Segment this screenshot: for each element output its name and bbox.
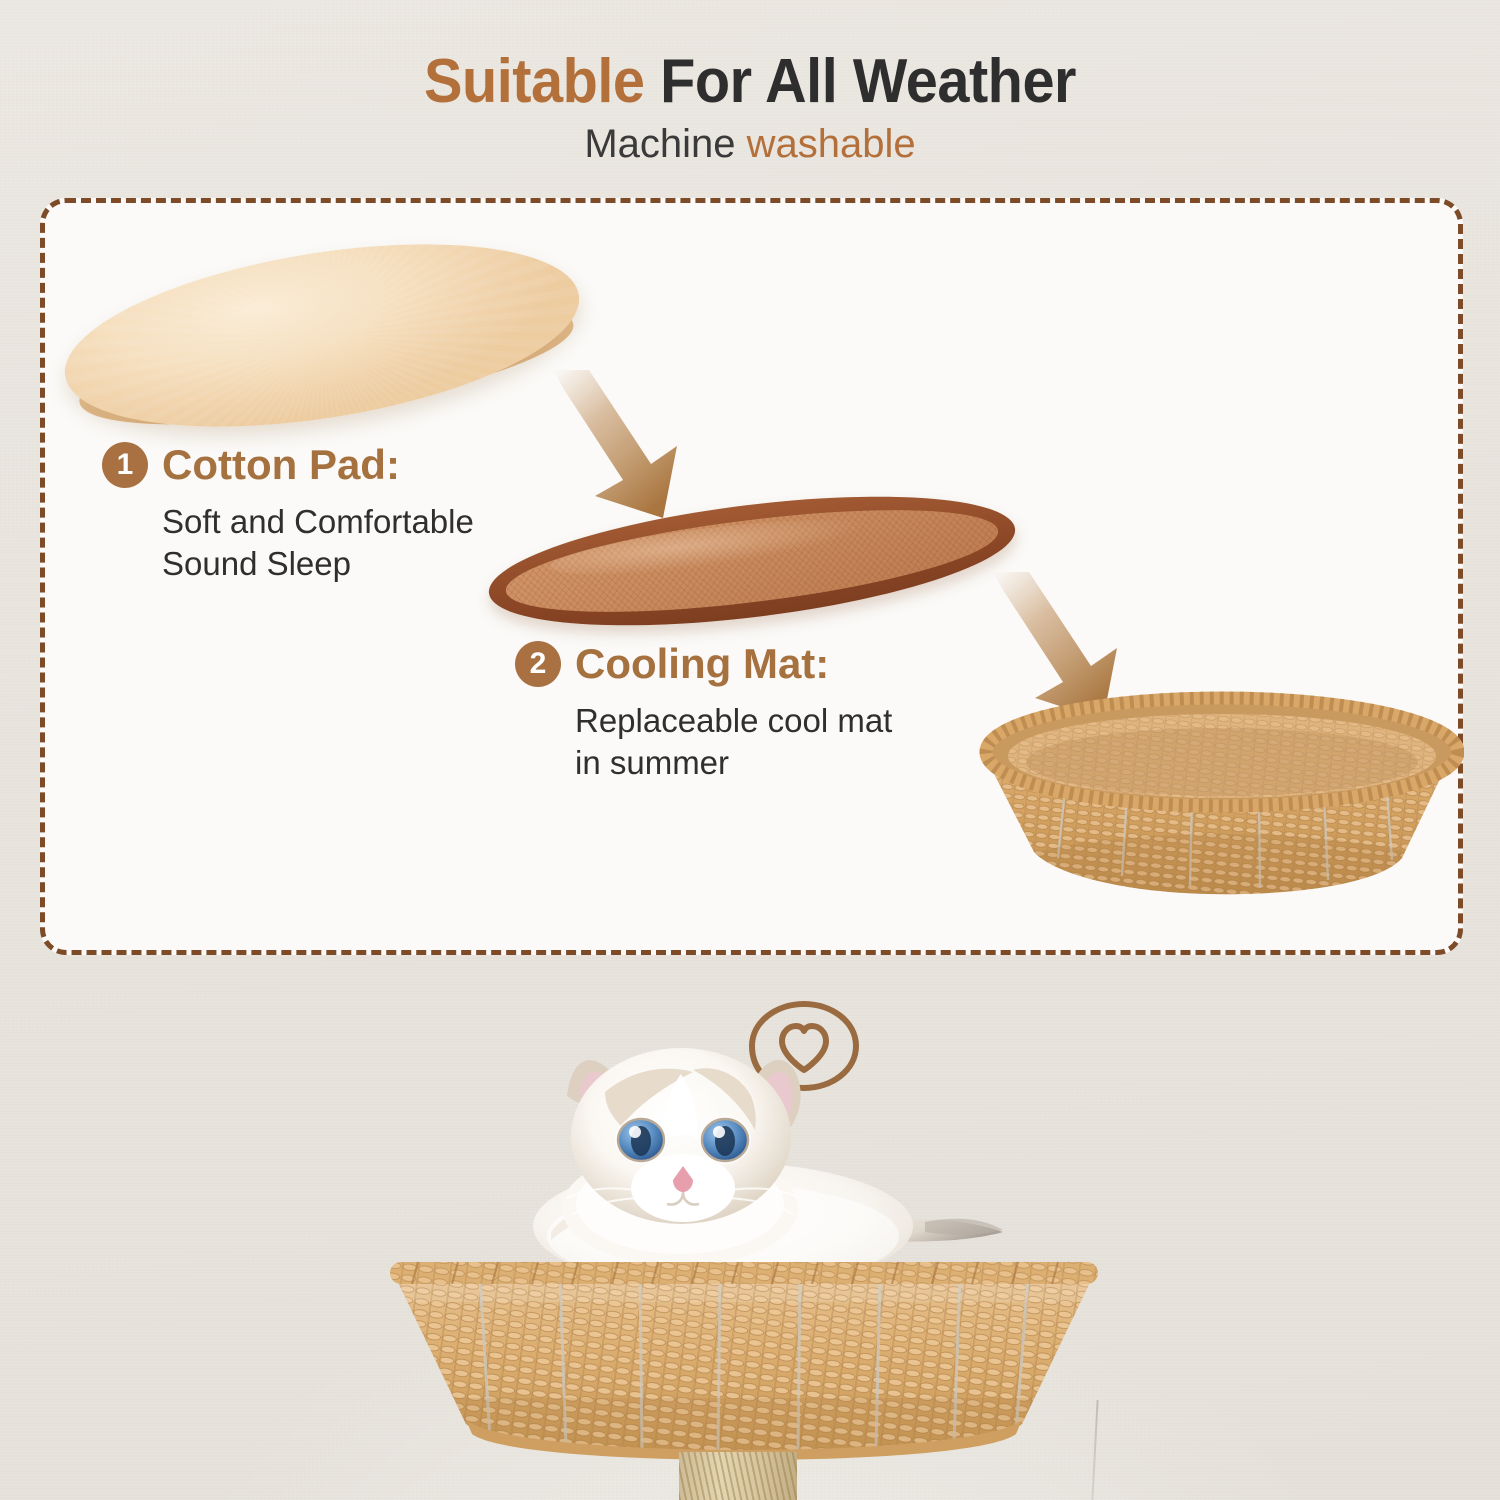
page-title-accent: Suitable xyxy=(424,47,645,116)
callout-2-body: Replaceable cool mat in summer xyxy=(575,700,892,784)
woven-basket-image xyxy=(972,688,1464,903)
callout-1-title-row: 1 Cotton Pad: xyxy=(102,441,474,489)
page-subtitle-plain: Machine xyxy=(584,122,746,166)
scratching-post xyxy=(679,1452,797,1500)
page-title-rest: For All Weather xyxy=(645,47,1076,116)
callout-1-title: Cotton Pad: xyxy=(162,441,400,489)
callout-2-number: 2 xyxy=(515,641,561,687)
callout-cooling-mat: 2 Cooling Mat: Replaceable cool mat in s… xyxy=(515,640,892,784)
page-subtitle: Machine washable xyxy=(0,122,1500,167)
callout-2-title-row: 2 Cooling Mat: xyxy=(515,640,892,688)
cat-bed-basket xyxy=(388,1248,1100,1460)
callout-2-title: Cooling Mat: xyxy=(575,640,829,688)
page-subtitle-accent: washable xyxy=(747,122,916,166)
callout-cotton-pad: 1 Cotton Pad: Soft and Comfortable Sound… xyxy=(102,441,474,585)
page-title: Suitable For All Weather xyxy=(53,46,1448,117)
arrow-pad-to-mat xyxy=(545,368,695,533)
callout-1-body: Soft and Comfortable Sound Sleep xyxy=(162,501,474,585)
callout-1-number: 1 xyxy=(102,442,148,488)
